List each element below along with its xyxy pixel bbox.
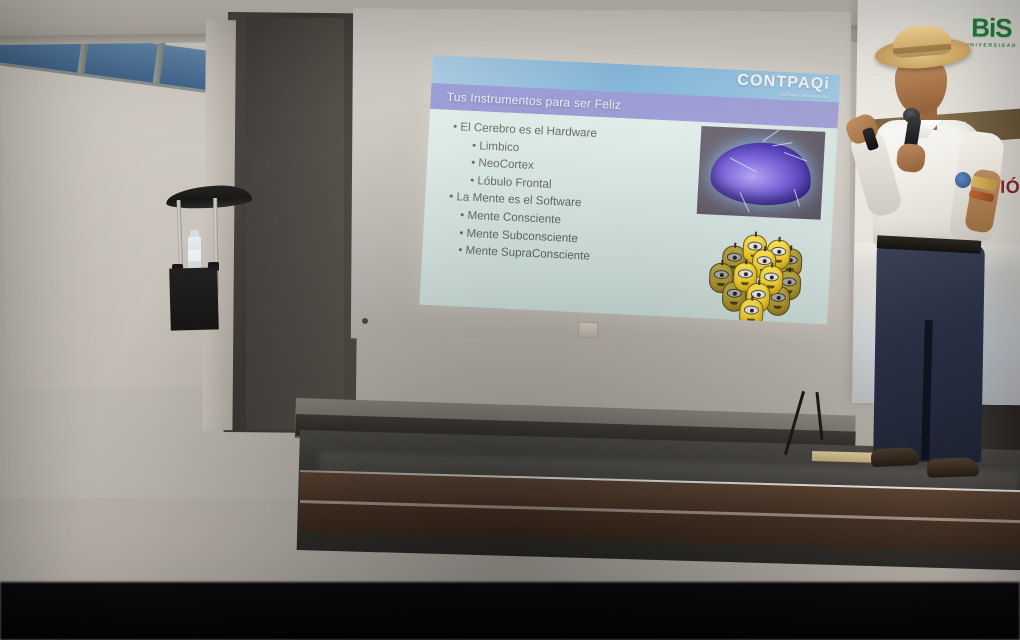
projected-slide: CONTPAQi software empresarial Tus Instru… bbox=[419, 55, 840, 324]
minion-hair bbox=[764, 246, 766, 251]
audience-area bbox=[0, 310, 1020, 640]
minion-pupil bbox=[787, 280, 791, 284]
minion-mouth bbox=[741, 282, 749, 285]
minion-pupil bbox=[776, 295, 780, 299]
minion-hair bbox=[734, 243, 736, 248]
minion-pupil bbox=[732, 255, 736, 259]
contpaqi-logo: CONTPAQi software empresarial bbox=[736, 73, 830, 100]
minion-goggle-icon bbox=[738, 269, 753, 279]
minion-pupil bbox=[719, 272, 723, 276]
minion-goggle-icon bbox=[756, 256, 771, 266]
slide-canvas: CONTPAQi software empresarial Tus Instru… bbox=[419, 55, 840, 324]
minion-goggle-icon bbox=[714, 270, 729, 280]
water-bottle-label bbox=[188, 250, 201, 261]
minion-mouth bbox=[774, 306, 782, 309]
photograph-scene: CONTPAQi software empresarial Tus Instru… bbox=[0, 0, 1020, 640]
minion-pupil bbox=[753, 244, 757, 248]
minion-hair bbox=[751, 296, 753, 301]
minion-hair bbox=[789, 267, 791, 272]
minion-pupil bbox=[756, 292, 760, 296]
brain-image bbox=[697, 126, 826, 220]
minion-pupil bbox=[777, 249, 781, 253]
speaker-shoe-right bbox=[927, 457, 980, 478]
minion-mouth bbox=[730, 302, 738, 305]
minion-hair bbox=[758, 280, 760, 285]
speaker-shoe-left bbox=[871, 447, 920, 467]
minion-goggle-icon bbox=[781, 277, 796, 287]
minion-goggle-icon bbox=[727, 252, 742, 262]
slide-body: El Cerebro es el HardwareLimbicoNeoCorte… bbox=[419, 109, 837, 324]
slide-title: Tus Instrumentos para ser Feliz bbox=[430, 89, 621, 112]
minion-pupil bbox=[762, 259, 766, 263]
contpaqi-logo-text: CONTPAQi bbox=[737, 72, 831, 93]
minion-pupil bbox=[732, 291, 736, 295]
minion-pupil bbox=[769, 275, 773, 279]
minion-hair bbox=[745, 259, 747, 264]
minion-hair bbox=[721, 260, 723, 265]
minions-image bbox=[705, 230, 806, 318]
speaker-hand-holding-microphone bbox=[896, 143, 927, 174]
minion-goggle-icon bbox=[764, 272, 779, 282]
minion-pupil bbox=[743, 272, 747, 276]
speaker-shirt-logo bbox=[955, 172, 971, 188]
slide-bullet-list: El Cerebro es el HardwareLimbicoNeoCorte… bbox=[436, 118, 668, 269]
auditorium-chair-row-foreground bbox=[0, 582, 1020, 640]
minion-hair bbox=[771, 262, 773, 267]
minion-hair bbox=[779, 237, 781, 242]
water-bottle-cap bbox=[190, 230, 199, 237]
minion-hair bbox=[755, 232, 757, 237]
